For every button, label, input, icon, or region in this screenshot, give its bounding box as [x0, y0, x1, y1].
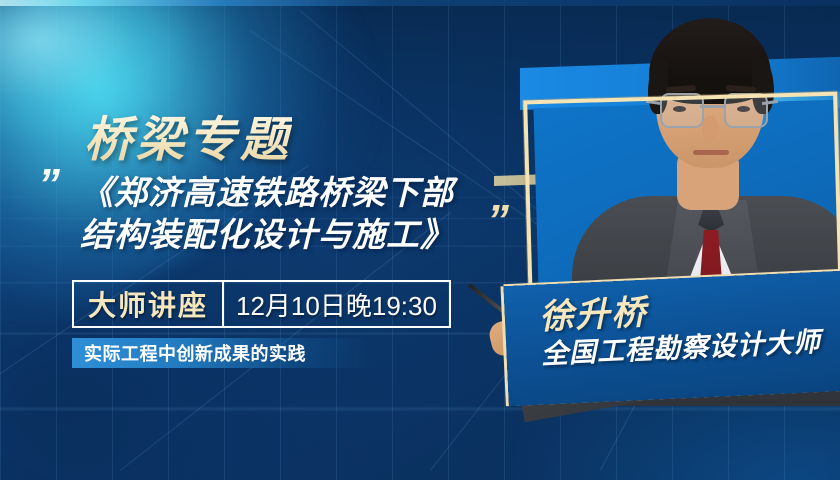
- book-title: 《郑济高速铁路桥梁下部 结构装配化设计与施工》: [80, 172, 500, 256]
- badge-label: 大师讲座: [74, 282, 222, 326]
- lecture-badge: 大师讲座 12月10日晚19:30: [72, 280, 451, 328]
- subtitle-bar: 实际工程中创新成果的实践: [72, 338, 372, 368]
- book-title-line-2: 结构装配化设计与施工》: [80, 214, 500, 256]
- quote-open-icon: ”: [38, 172, 58, 198]
- book-title-line-1: 《郑济高速铁路桥梁下部: [80, 172, 500, 214]
- subtitle-text: 实际工程中创新成果的实践: [72, 340, 306, 366]
- promo-poster: 徐升桥 全国工程勘察设计大师 桥梁专题 ” ” 《郑济高速铁路桥梁下部 结构装配…: [0, 0, 840, 480]
- speaker-name-block: 徐升桥 全国工程勘察设计大师: [539, 285, 840, 371]
- page-title: 桥梁专题: [84, 100, 292, 170]
- badge-datetime: 12月10日晚19:30: [224, 282, 449, 326]
